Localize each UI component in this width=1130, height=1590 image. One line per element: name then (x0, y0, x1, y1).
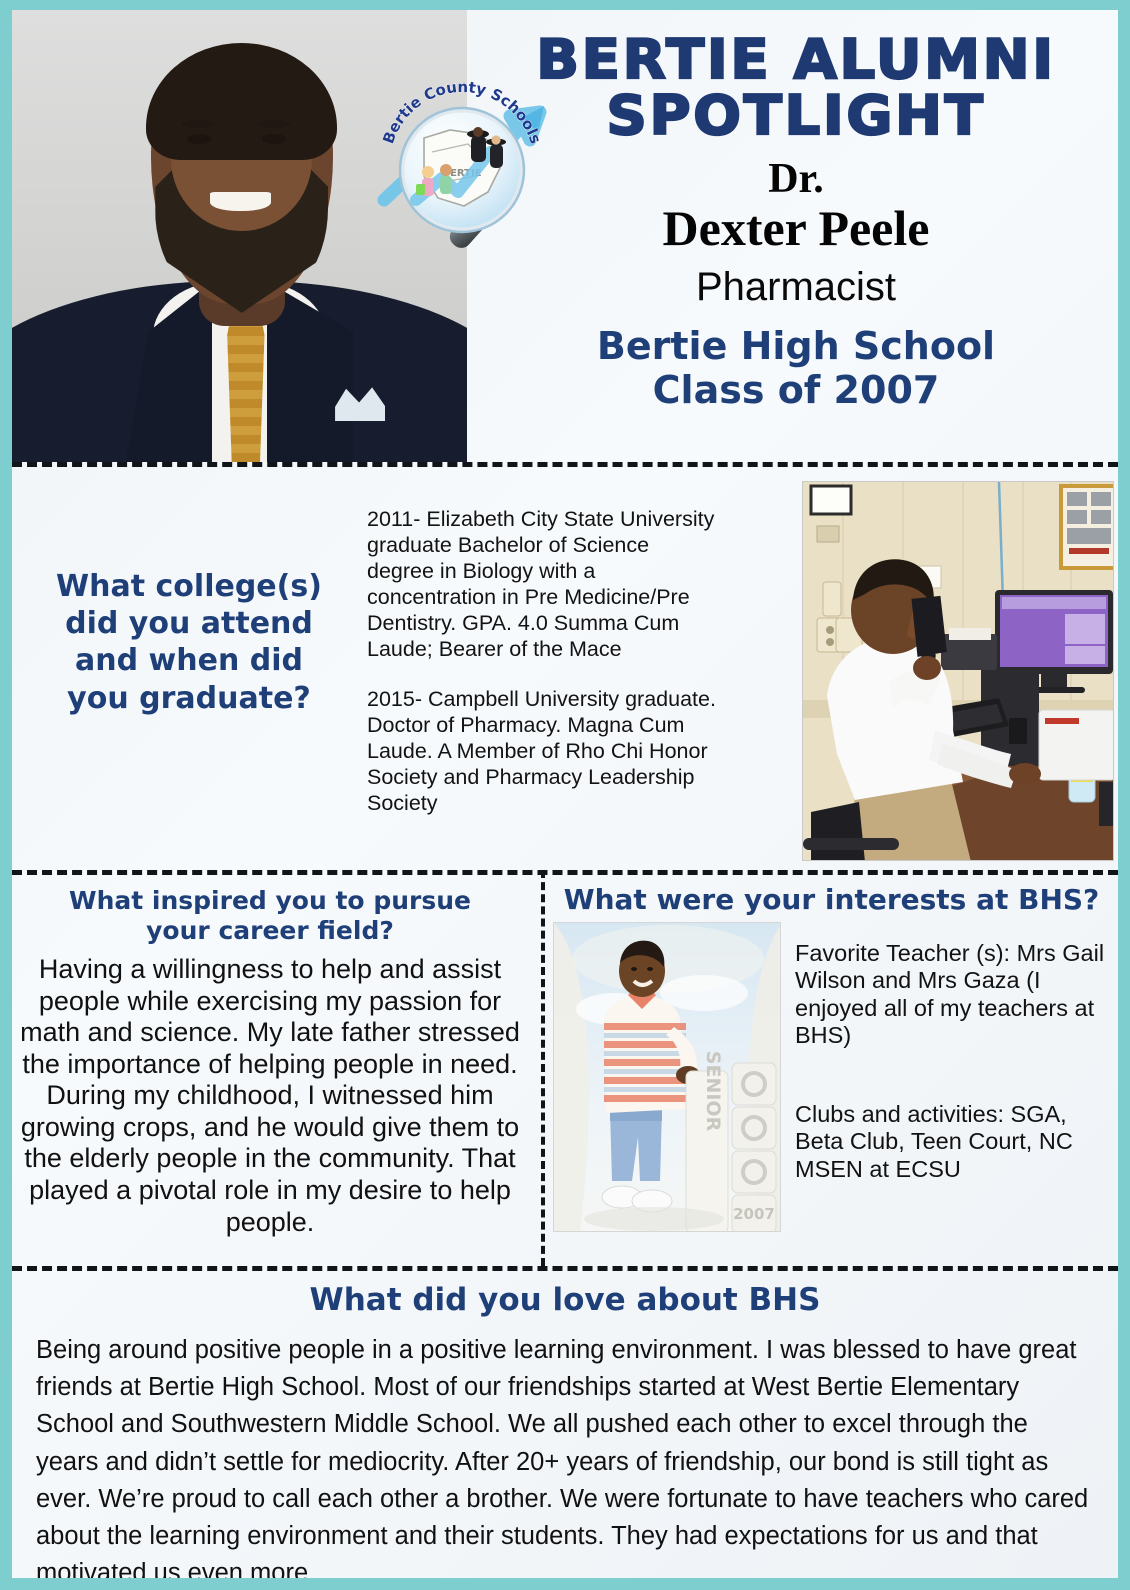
middle-sections: What inspired you to pursue your career … (12, 876, 1118, 1264)
college-question-line-3: and when did (24, 642, 354, 679)
alumni-honorific: Dr. (488, 158, 1104, 200)
inspired-answer: Having a willingness to help and assist … (18, 954, 522, 1238)
interests-question: What were your interests at BHS? (553, 884, 1110, 916)
alumni-spotlight-flyer: BERTIE (0, 0, 1130, 1590)
interests-answer-item: Clubs and activities: SGA, Beta Club, Te… (795, 1101, 1110, 1183)
inspired-question-line-1: What inspired you to pursue (36, 886, 504, 916)
senior-class-photo: SENIOR (553, 922, 781, 1232)
interests-section: What were your interests at BHS? (545, 876, 1118, 1264)
divider-bottom (12, 1266, 1118, 1271)
interests-answer-item: Favorite Teacher (s): Mrs Gail Wilson an… (795, 940, 1110, 1049)
college-question: What college(s) did you attend and when … (24, 568, 354, 717)
eye-left-shape (187, 134, 211, 143)
divider-middle-vertical (541, 870, 545, 1266)
inspired-section: What inspired you to pursue your career … (12, 876, 528, 1264)
alumni-class-year: Class of 2007 (488, 369, 1104, 412)
college-section: What college(s) did you attend and when … (12, 468, 1118, 860)
senior-year-label: 2007 (733, 1205, 775, 1223)
eyebrow-left-shape (182, 120, 214, 128)
banner-title-line1: BERTIE ALUMNI (536, 28, 1055, 91)
college-question-line-2: did you attend (24, 605, 354, 642)
header-text-block: BERTIE ALUMNI SPOTLIGHT Dr. Dexter Peele… (474, 10, 1118, 462)
college-question-line-4: you graduate? (24, 680, 354, 717)
smile-shape (210, 192, 271, 211)
alumni-role: Pharmacist (488, 265, 1104, 309)
banner-title-line2: SPOTLIGHT (476, 88, 1117, 144)
alumni-portrait-photo (12, 10, 467, 462)
senior-block-label: SENIOR (702, 1051, 724, 1132)
love-section: What did you love about BHS Being around… (12, 1272, 1118, 1578)
divider-header (12, 462, 1118, 467)
portrait-image (12, 10, 467, 462)
flyer-banner-title: BERTIE ALUMNI SPOTLIGHT (476, 32, 1117, 144)
senior-class-photo-image: SENIOR (554, 923, 781, 1232)
college-answer-item: 2015- Campbell University graduate. Doct… (367, 686, 717, 816)
college-answer-item: 2011- Elizabeth City State University gr… (367, 506, 717, 662)
inspired-question: What inspired you to pursue your career … (18, 886, 522, 946)
header-section: BERTIE (12, 10, 1118, 462)
interests-answer: Favorite Teacher (s): Mrs Gail Wilson an… (795, 922, 1110, 1232)
pharmacy-work-photo (802, 481, 1114, 861)
interests-content: SENIOR (553, 922, 1110, 1232)
love-question: What did you love about BHS (28, 1282, 1102, 1318)
pharmacy-work-photo-image (803, 482, 1114, 861)
college-question-line-1: What college(s) (24, 568, 354, 605)
love-answer: Being around positive people in a positi… (28, 1332, 1102, 1578)
flyer-sheet: BERTIE (12, 10, 1118, 1578)
alumni-school-name: Bertie High School (488, 325, 1104, 368)
hair-shape (146, 43, 337, 161)
alumni-school-block: Bertie High School Class of 2007 (488, 325, 1104, 412)
eyebrow-right-shape (258, 120, 290, 128)
divider-college (12, 870, 1118, 875)
inspired-question-line-2: your career field? (36, 916, 504, 946)
eye-right-shape (262, 134, 286, 143)
college-answer: 2011- Elizabeth City State University gr… (367, 506, 717, 816)
alumni-name: Dexter Peele (488, 202, 1104, 255)
